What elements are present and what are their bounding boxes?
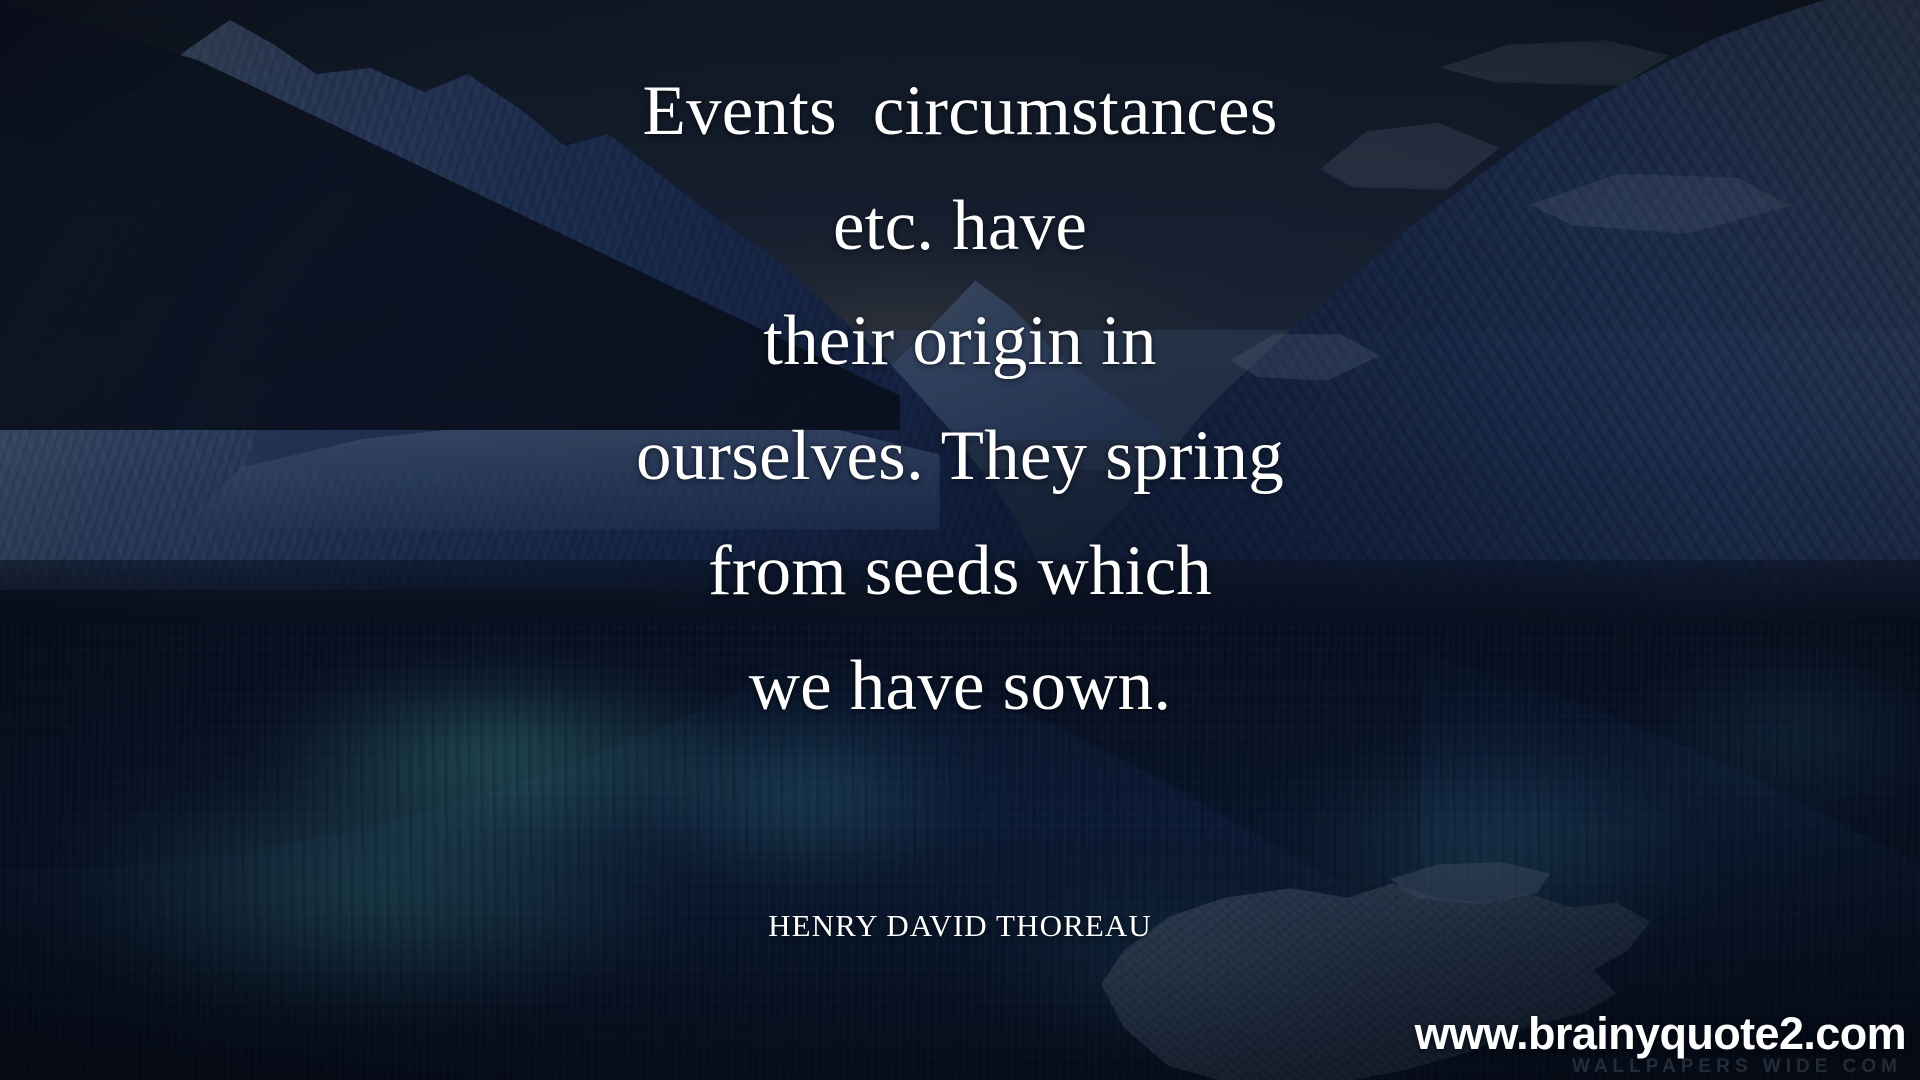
quote-wallpaper: Events circumstances etc. have their ori… [0, 0, 1920, 1080]
site-watermark[interactable]: www.brainyquote2.com [1415, 1008, 1906, 1060]
quote-author: HENRY DAVID THOREAU [0, 908, 1920, 944]
quote-line: we have sown. [0, 629, 1920, 744]
source-ghost-watermark: WALLPAPERS WIDE COM [1572, 1056, 1902, 1078]
quote-line: from seeds which [0, 514, 1920, 629]
quote-line: ourselves. They spring [0, 399, 1920, 514]
quote-text: Events circumstances etc. have their ori… [0, 54, 1920, 744]
quote-line: their origin in [0, 284, 1920, 399]
text-overlay: Events circumstances etc. have their ori… [0, 0, 1920, 1080]
quote-line: etc. have [0, 169, 1920, 284]
quote-line: Events circumstances [0, 54, 1920, 169]
